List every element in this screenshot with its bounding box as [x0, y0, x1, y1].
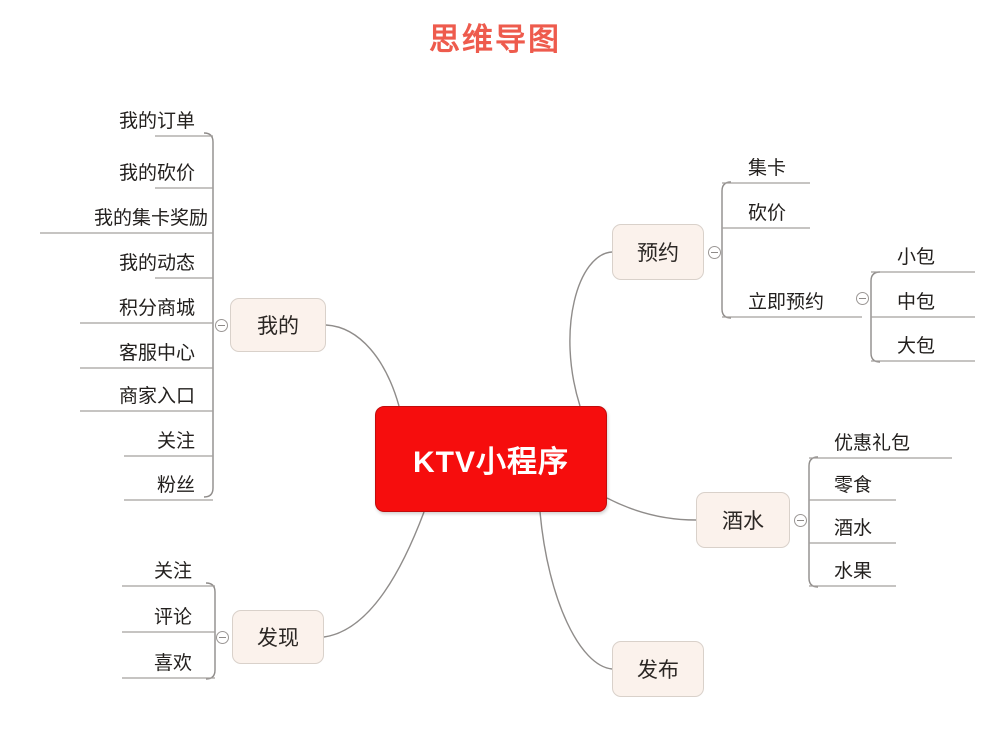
- branch-node-label: 我的: [257, 310, 299, 340]
- collapse-toggle-nqs4p[interactable]: [708, 246, 721, 259]
- leaf-node-ng9b1[interactable]: 小包: [897, 242, 935, 272]
- branch-node-label: 发布: [637, 654, 679, 684]
- branch-node-label: 酒水: [722, 505, 764, 535]
- leaf-node-nelgc[interactable]: 关注: [154, 556, 192, 586]
- trunk-to-jiushui: [607, 498, 696, 520]
- leaf-node-nq8wy[interactable]: 集卡: [748, 153, 786, 183]
- leaf-node-nfrid[interactable]: 大包: [897, 331, 935, 361]
- trunk-to-fabu: [540, 512, 612, 669]
- leaf-node-nftxlhi[interactable]: 积分商城: [119, 293, 195, 323]
- root-node[interactable]: KTV小程序: [375, 406, 607, 512]
- leaf-node-nj48f[interactable]: 水果: [834, 556, 872, 586]
- trunk-to-faxian: [324, 512, 424, 637]
- trunk-to-wode: [326, 325, 399, 406]
- trunk-to-yuyue: [570, 252, 612, 406]
- collapse-toggle-nfyd8oh[interactable]: [856, 292, 869, 305]
- leaf-node-npgfd[interactable]: 酒水: [834, 513, 872, 543]
- leaf-node-nc3e9wo[interactable]: 客服中心: [119, 338, 195, 368]
- leaf-node-n9mg2ctjk[interactable]: 我的集卡奖励: [94, 203, 208, 233]
- leaf-node-nqnsg[interactable]: 零食: [834, 470, 872, 500]
- leaf-node-noon1[interactable]: 评论: [154, 602, 192, 632]
- branch-node-npgfd[interactable]: 酒水: [696, 492, 790, 548]
- collapse-toggle-nhh3u[interactable]: [215, 319, 228, 332]
- leaf-node-nb8vg0l[interactable]: 商家入口: [119, 381, 195, 411]
- leaf-node-ndwan[interactable]: 中包: [897, 287, 935, 317]
- collapse-toggle-nf1ae[interactable]: [216, 631, 229, 644]
- root-node-label: KTV小程序: [413, 437, 569, 481]
- branch-node-label: 预约: [637, 237, 679, 267]
- mindmap-canvas: 思维导图 KTV小程序我的我的订单我的砍价我的集卡奖励我的动态积分商城客服中心商…: [0, 0, 990, 749]
- branch-node-nqs4p[interactable]: 预约: [612, 224, 704, 280]
- leaf-node-ncz2i1w[interactable]: 我的砍价: [119, 158, 195, 188]
- collapse-toggle-npgfd[interactable]: [794, 514, 807, 527]
- leaf-node-nfakt[interactable]: 喜欢: [154, 648, 192, 678]
- branch-node-nf1ae[interactable]: 发现: [232, 610, 324, 664]
- branch-nqs4p-spine: [722, 182, 731, 318]
- branch-nhh3u-spine: [204, 133, 213, 497]
- leaf-node-nelgc[interactable]: 关注: [157, 426, 195, 456]
- branch-nf1ae-spine: [206, 583, 215, 679]
- leaf-node-ncz5utp[interactable]: 我的订单: [119, 106, 195, 136]
- leaf-node-nfyd8oh[interactable]: 立即预约: [748, 287, 824, 317]
- branch-node-label: 发现: [257, 622, 299, 652]
- branch-node-nex09[interactable]: 发布: [612, 641, 704, 697]
- sub-nfyd8oh-spine: [871, 272, 880, 362]
- branch-node-nhh3u[interactable]: 我的: [230, 298, 326, 352]
- page-title: 思维导图: [0, 14, 990, 59]
- branch-npgfd-spine: [809, 457, 818, 587]
- leaf-node-nlr7f[interactable]: 粉丝: [157, 470, 195, 500]
- leaf-node-nahrau0[interactable]: 优惠礼包: [834, 428, 910, 458]
- leaf-node-ncyw8fn[interactable]: 我的动态: [119, 248, 195, 278]
- leaf-node-nkzwx[interactable]: 砍价: [748, 198, 786, 228]
